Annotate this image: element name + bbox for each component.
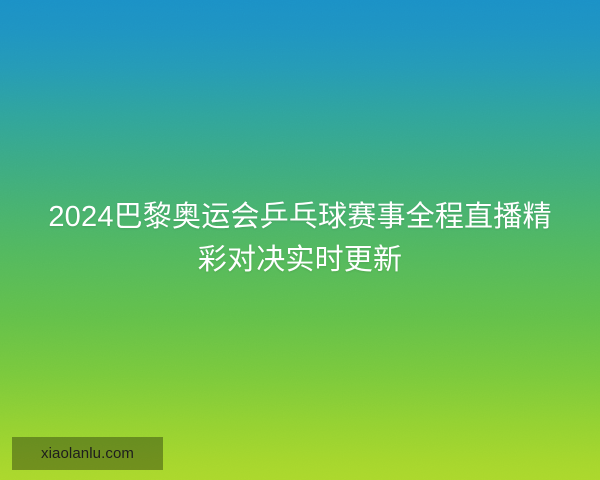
cover-headline: 2024巴黎奥运会乒乓球赛事全程直播精彩对决实时更新 [0,196,600,282]
cover-image-card: 2024巴黎奥运会乒乓球赛事全程直播精彩对决实时更新 xiaolanlu.com [0,0,600,480]
watermark-label: xiaolanlu.com [41,446,134,461]
site-watermark: xiaolanlu.com [12,437,163,470]
